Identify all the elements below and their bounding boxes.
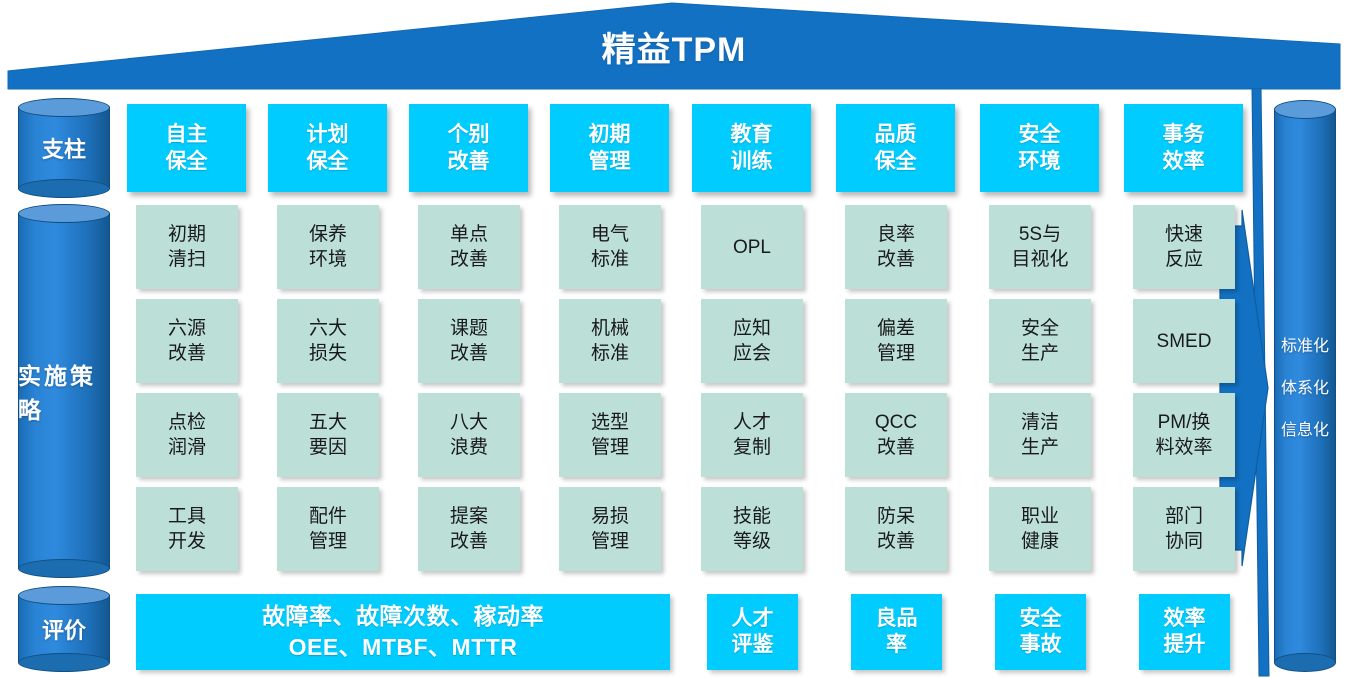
cylinder-label-line-2: 体系化: [1281, 374, 1329, 398]
cylinder-label-stack: 标准化 体系化 信息化: [1274, 100, 1336, 672]
cell-p3-r2[interactable]: 课题 改善: [418, 299, 520, 383]
cylinder-label-line-1: 标准化: [1281, 332, 1329, 356]
pillar-header-office-efficiency[interactable]: 事务 效率: [1124, 104, 1243, 192]
cell-p2-r4[interactable]: 配件 管理: [277, 487, 379, 571]
cell-p1-r1[interactable]: 初期 清扫: [136, 205, 238, 289]
pillar-header-planned-maintenance[interactable]: 计划 保全: [268, 104, 387, 192]
cell-p1-r2[interactable]: 六源 改善: [136, 299, 238, 383]
pillar-axis-cylinder[interactable]: 支柱: [18, 98, 110, 198]
evaluation-safety-incident[interactable]: 安全 事故: [995, 594, 1086, 670]
pillar-header-quality-maintenance[interactable]: 品质 保全: [836, 104, 955, 192]
cell-p7-r3[interactable]: 清洁 生产: [989, 393, 1091, 477]
cylinder-label-line-3: 信息化: [1281, 416, 1329, 440]
cell-p3-r1[interactable]: 单点 改善: [418, 205, 520, 289]
cylinder-label-text: 实施策略: [18, 357, 110, 425]
cell-p1-r4[interactable]: 工具 开发: [136, 487, 238, 571]
cell-p4-r1[interactable]: 电气 标准: [559, 205, 661, 289]
evaluation-efficiency-gain[interactable]: 效率 提升: [1139, 594, 1230, 670]
pillar-header-early-management[interactable]: 初期 管理: [550, 104, 669, 192]
cell-p6-r4[interactable]: 防呆 改善: [845, 487, 947, 571]
cell-p8-r1[interactable]: 快速 反应: [1133, 205, 1235, 289]
cell-p6-r3[interactable]: QCC 改善: [845, 393, 947, 477]
pillar-header-safety-environment[interactable]: 安全 环境: [980, 104, 1099, 192]
cylinder-label: 评价: [18, 586, 110, 672]
cell-p8-r2[interactable]: SMED: [1133, 299, 1235, 383]
cell-p8-r3[interactable]: PM/换 料效率: [1133, 393, 1235, 477]
cell-p8-r4[interactable]: 部门 协同: [1133, 487, 1235, 571]
cell-p4-r4[interactable]: 易损 管理: [559, 487, 661, 571]
standardization-cylinder[interactable]: 标准化 体系化 信息化: [1274, 100, 1336, 672]
cell-p5-r1[interactable]: OPL: [701, 205, 803, 289]
cell-p1-r3[interactable]: 点检 润滑: [136, 393, 238, 477]
pillar-header-autonomous-maintenance[interactable]: 自主 保全: [127, 104, 246, 192]
cell-p5-r2[interactable]: 应知 应会: [701, 299, 803, 383]
cylinder-label: 支柱: [18, 98, 110, 198]
pillar-header-education-training[interactable]: 教育 训练: [692, 104, 811, 192]
cell-p7-r1[interactable]: 5S与 目视化: [989, 205, 1091, 289]
pillar-header-focused-improvement[interactable]: 个别 改善: [409, 104, 528, 192]
cell-p7-r4[interactable]: 职业 健康: [989, 487, 1091, 571]
cell-p7-r2[interactable]: 安全 生产: [989, 299, 1091, 383]
cylinder-label: 实施策略: [18, 204, 110, 578]
cell-p5-r4[interactable]: 技能 等级: [701, 487, 803, 571]
evaluation-cylinder[interactable]: 评价: [18, 586, 110, 672]
cell-p6-r1[interactable]: 良率 改善: [845, 205, 947, 289]
cell-p3-r4[interactable]: 提案 改善: [418, 487, 520, 571]
cell-p5-r3[interactable]: 人才 复制: [701, 393, 803, 477]
evaluation-good-product-rate[interactable]: 良品 率: [851, 594, 942, 670]
cell-p3-r3[interactable]: 八大 浪费: [418, 393, 520, 477]
cell-p2-r1[interactable]: 保养 环境: [277, 205, 379, 289]
implementation-strategy-cylinder[interactable]: 实施策略: [18, 204, 110, 578]
cell-p6-r2[interactable]: 偏差 管理: [845, 299, 947, 383]
evaluation-talent-assessment[interactable]: 人才 评鉴: [707, 594, 798, 670]
cell-p4-r2[interactable]: 机械 标准: [559, 299, 661, 383]
evaluation-metrics-bar[interactable]: 故障率、故障次数、稼动率 OEE、MTBF、MTTR: [136, 594, 670, 670]
cell-p2-r2[interactable]: 六大 损失: [277, 299, 379, 383]
cell-p2-r3[interactable]: 五大 要因: [277, 393, 379, 477]
tpm-house-diagram: 精益TPM 支柱 实施策略 评价 标准化: [0, 0, 1348, 678]
page-title: 精益TPM: [0, 28, 1348, 72]
cell-p4-r3[interactable]: 选型 管理: [559, 393, 661, 477]
